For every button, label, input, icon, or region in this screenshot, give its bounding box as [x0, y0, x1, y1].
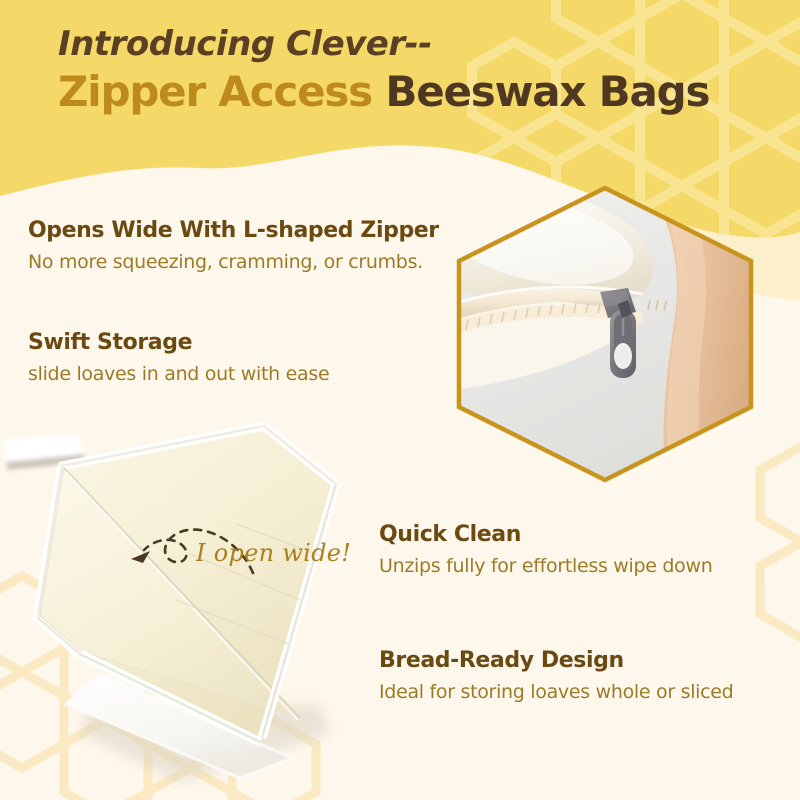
headline-main: Zipper Access Beeswax Bags — [58, 68, 778, 115]
feature-description: slide loaves in and out with ease — [28, 363, 329, 387]
feature-title: Bread-Ready Design — [379, 648, 733, 674]
headline-accent-text: Zipper Access — [58, 67, 372, 116]
beeswax-bag-photo — [0, 404, 400, 800]
headline-dark-text: Beeswax Bags — [372, 67, 709, 116]
feature-bread-ready: Bread-Ready Design Ideal for storing loa… — [379, 648, 733, 705]
feature-title: Swift Storage — [28, 330, 329, 356]
feature-quick-clean: Quick Clean Unzips fully for effortless … — [379, 522, 712, 579]
feature-title: Opens Wide With L-shaped Zipper — [28, 218, 439, 244]
feature-opens-wide: Opens Wide With L-shaped Zipper No more … — [28, 218, 439, 275]
feature-title: Quick Clean — [379, 522, 712, 548]
headline-kicker: Introducing Clever-- — [58, 24, 778, 64]
feature-description: No more squeezing, cramming, or crumbs. — [28, 251, 439, 275]
feature-description: Ideal for storing loaves whole or sliced — [379, 681, 733, 705]
feature-swift-storage: Swift Storage slide loaves in and out wi… — [28, 330, 329, 387]
header-text-block: Introducing Clever-- Zipper Access Beesw… — [58, 24, 778, 115]
zipper-closeup-photo — [452, 184, 758, 484]
infographic-canvas: Introducing Clever-- Zipper Access Beesw… — [0, 0, 800, 800]
feature-description: Unzips fully for effortless wipe down — [379, 555, 712, 579]
open-wide-annotation: I open wide! — [196, 539, 351, 567]
